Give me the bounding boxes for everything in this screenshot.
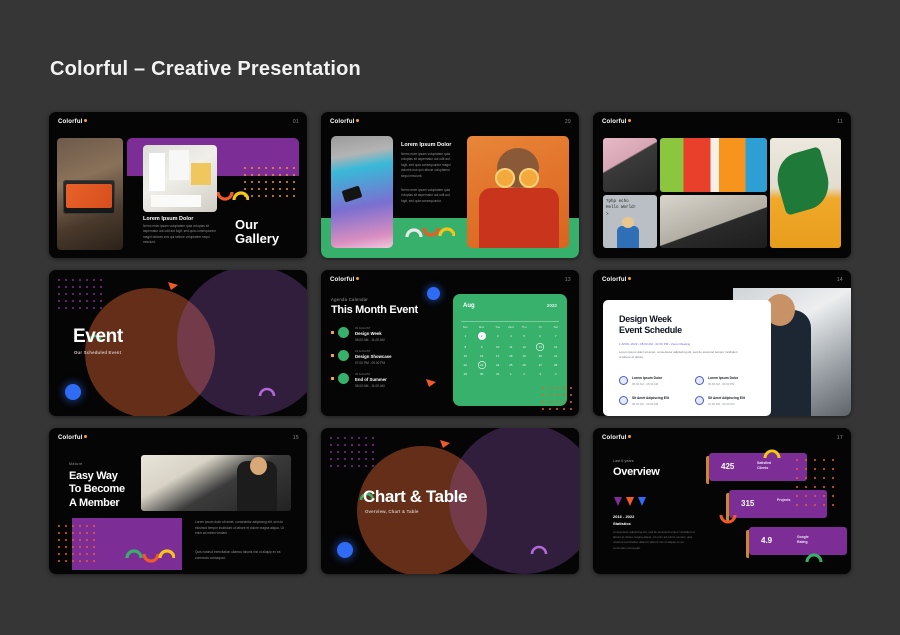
- body-text: Nemo enim ipsam voluptatem quia voluptas…: [143, 224, 217, 245]
- calendar-day[interactable]: 6: [530, 330, 550, 341]
- logo-dot-icon: [356, 119, 359, 122]
- leaf-photo: [770, 138, 841, 248]
- triangle-icon: [167, 281, 179, 291]
- kicker: Last 6 years: [613, 459, 634, 463]
- schedule-time: 08.30 AM - 09.00 AM: [632, 402, 658, 406]
- stat-label: Satisfied Clients: [757, 461, 795, 471]
- code-illustration: ?php echo Hello World! >: [603, 195, 657, 248]
- body-text: Consectetur adipiscing elit, sed do eius…: [613, 530, 697, 551]
- card-title: Design Week Event Schedule: [619, 314, 682, 336]
- logo: Colorful: [58, 119, 87, 125]
- slide-thumbnail-this-month-event[interactable]: Colorful 13 Agenda Calendar This Month E…: [321, 270, 579, 416]
- sub-title: Lorem Ipsum Dolor: [143, 216, 193, 222]
- slide-grid: Colorful 01: [49, 112, 851, 574]
- kicker: Mature: [69, 462, 83, 466]
- logo: Colorful: [602, 435, 631, 441]
- logo-dot-icon: [84, 435, 87, 438]
- person-photo: [141, 455, 291, 511]
- calendar-day[interactable]: 5: [518, 330, 530, 341]
- interior-photo: [143, 145, 217, 212]
- dot-grid-icon: [57, 278, 107, 316]
- schedule-title: Lorem Ipsum Dolor: [632, 376, 662, 380]
- agenda-title: Design Showcase: [355, 354, 392, 359]
- logo: Colorful: [58, 435, 87, 441]
- stat-bar: 425 Satisfied Clients: [709, 453, 807, 481]
- calendar-day[interactable]: 29: [459, 371, 472, 378]
- calendar-day[interactable]: 11: [504, 341, 518, 352]
- calendar-day[interactable]: 18: [504, 352, 518, 359]
- schedule-time: 01.00 PM - 02.00 PM: [708, 402, 734, 406]
- calendar-day[interactable]: 10: [492, 341, 504, 352]
- schedule-time: 09.00 AM - 09.00 PM: [708, 382, 734, 386]
- dot-grid-icon: [243, 166, 299, 206]
- agenda-date: 26 AUGUST: [355, 372, 370, 376]
- calendar-day[interactable]: 3: [530, 371, 550, 378]
- agenda-time: 08.00 AM - 11.00 AM: [355, 384, 385, 388]
- page-number: 01: [293, 119, 299, 125]
- triangle-icon: [439, 439, 451, 449]
- weekday: Thu: [518, 323, 530, 330]
- agenda-time: 07.00 PM - 09.00 PM: [355, 361, 385, 365]
- page-number: 14: [837, 277, 843, 283]
- calendar-day[interactable]: 9: [472, 341, 492, 352]
- purple-arc-icon: [258, 386, 276, 397]
- logo: Colorful: [330, 119, 359, 125]
- purple-arc-icon: [530, 544, 548, 555]
- avatar: [338, 350, 349, 361]
- schedule-card: Design Week Event Schedule 1 APRIL 2022 …: [603, 300, 771, 416]
- color-swatch-photo: [331, 136, 393, 248]
- page-number: 29: [565, 119, 571, 125]
- calendar-day[interactable]: 27: [530, 360, 550, 371]
- square-bullet-icon: [331, 377, 334, 380]
- calendar-day[interactable]: 25: [504, 360, 518, 371]
- agenda-time: 08.00 AM - 11.00 AM: [355, 338, 385, 342]
- clock-icon: [619, 396, 628, 405]
- list-item[interactable]: 19 AUGUST Design Showcase 07.00 PM - 09.…: [331, 349, 441, 372]
- weekday: Wed: [504, 323, 518, 330]
- stat-value: 4.9: [761, 536, 772, 545]
- calendar-day[interactable]: 17: [492, 352, 504, 359]
- logo-dot-icon: [628, 435, 631, 438]
- calendar-day[interactable]: 22: [459, 360, 472, 371]
- calendar-day[interactable]: 4: [550, 371, 561, 378]
- clock-icon: [695, 396, 704, 405]
- schedule-title: Lorem Ipsum Dolor: [708, 376, 738, 380]
- presentation-preview-page: Colorful – Creative Presentation Colorfu…: [0, 0, 900, 635]
- stat-period-label: 2016 - 2022 Statistics: [613, 514, 634, 528]
- calendar-month: Aug: [463, 303, 475, 309]
- slide-heading: Our Gallery: [235, 218, 299, 245]
- code-text: ?php echo Hello World! >: [606, 199, 636, 218]
- model-photo: [467, 136, 569, 248]
- slide-thumbnail-become-member[interactable]: Colorful 15 Mature Easy Way To Become A …: [49, 428, 307, 574]
- stat-value: 425: [721, 462, 734, 471]
- calendar-day[interactable]: 19: [518, 352, 530, 359]
- slide-thumbnail-event[interactable]: Event Our Scheduled Event: [49, 270, 307, 416]
- calendar-day[interactable]: 1: [459, 330, 472, 341]
- calendar-day[interactable]: 28: [550, 360, 561, 371]
- slide-subtitle: Our Scheduled Event: [74, 350, 121, 355]
- weekday: Sat: [550, 323, 561, 330]
- slide-heading: Overview: [613, 466, 660, 478]
- slide-thumbnail-overview[interactable]: Colorful 17 Last 6 years Overview 2016 -…: [593, 428, 851, 574]
- card-meta: 1 APRIL 2022 • 08:00 AM - 02:00 PM • Zoo…: [619, 342, 690, 346]
- page-number: 15: [293, 435, 299, 441]
- slide-heading: This Month Event: [331, 304, 418, 316]
- page-title: Colorful – Creative Presentation: [50, 58, 361, 81]
- stat-value: 315: [741, 499, 754, 508]
- page-number: 17: [837, 435, 843, 441]
- dot-grid-icon: [795, 458, 843, 512]
- schedule-time: 08.00 AM - 08.30 AM: [632, 382, 658, 386]
- yellow-arc-icon: [763, 448, 781, 459]
- weekday: Fri: [530, 323, 550, 330]
- calendar-day[interactable]: 3: [492, 330, 504, 341]
- body-text: Lorem ipsum dolor sit amet, consectetur …: [195, 520, 291, 537]
- list-item[interactable]: 03 AUGUST Design Week 08.00 AM - 11.00 A…: [331, 326, 441, 349]
- slide-title: Chart & Table: [363, 487, 467, 507]
- calendar-day[interactable]: 21: [550, 352, 561, 359]
- logo-dot-icon: [356, 277, 359, 280]
- calendar-year: 2022: [547, 303, 557, 308]
- workspace-photo: [660, 195, 767, 248]
- calendar-week: 29 30 31 1 2 3 4: [459, 371, 561, 378]
- stat-bar: 4.9 Google Rating: [749, 527, 847, 555]
- agenda-date: 19 AUGUST: [355, 349, 370, 353]
- agenda-date: 03 AUGUST: [355, 326, 370, 330]
- calendar-week: 22 23 24 25 26 27 28: [459, 360, 561, 371]
- logo-dot-icon: [628, 119, 631, 122]
- blue-dot: [337, 542, 353, 558]
- blue-dot: [427, 287, 440, 300]
- calendar-day[interactable]: 30: [472, 371, 492, 378]
- sub-title: Lorem Ipsum Dolor: [401, 142, 451, 148]
- slide-heading: Easy Way To Become A Member: [69, 470, 125, 510]
- orange-arc-icon: [719, 514, 737, 525]
- desk-photo: [57, 138, 123, 250]
- calendar-day[interactable]: 7: [550, 330, 561, 341]
- green-arc-icon: [805, 552, 823, 563]
- schedule-title: Sit Amet Adipiscing Elit: [632, 396, 669, 400]
- agenda-title: End of Summer: [355, 377, 387, 382]
- calendar-day[interactable]: 26: [518, 360, 530, 371]
- body-text-2: Nemo enim ipsam voluptatem quia voluptas…: [401, 188, 453, 204]
- calendar-day-selected[interactable]: 2: [472, 330, 492, 341]
- slide-thumbnail-our-gallery[interactable]: Colorful 01: [49, 112, 307, 258]
- agenda-title: Design Week: [355, 331, 382, 336]
- divider: [461, 321, 559, 322]
- triangle-icon: [425, 378, 437, 388]
- calendar-day[interactable]: 1: [504, 371, 518, 378]
- dot-grid-icon: [57, 524, 99, 564]
- body-text-2: Quis nostrud exercitation ullamco labori…: [195, 550, 291, 561]
- slide-thumbnail-design-week[interactable]: Colorful 14 Design Week Event Schedule 1…: [593, 270, 851, 416]
- dot-grid-icon: [329, 436, 379, 474]
- calendar-day[interactable]: 24: [492, 360, 504, 371]
- clock-icon: [695, 376, 704, 385]
- calendar-weekday-row: Sun Mon Tue Wed Thu Fri Sat: [459, 323, 561, 330]
- calendar-day[interactable]: 20: [530, 352, 550, 359]
- calendar-week: 8 9 10 11 12 13 14: [459, 341, 561, 352]
- logo: Colorful: [602, 277, 631, 283]
- calendar-day[interactable]: 8: [459, 341, 472, 352]
- kicker: Agenda Calendar: [331, 297, 368, 302]
- slide-title: Event: [73, 326, 123, 348]
- clock-icon: [619, 376, 628, 385]
- square-bullet-icon: [331, 354, 334, 357]
- square-bullet-icon: [331, 331, 334, 334]
- calendar-day[interactable]: 31: [492, 371, 504, 378]
- camera-photo: [603, 138, 657, 192]
- triangle-row-icon: [613, 496, 657, 508]
- logo-dot-icon: [628, 277, 631, 280]
- calendar-day[interactable]: 16: [472, 352, 492, 359]
- stat-label: Google Rating: [797, 535, 835, 545]
- arc-shapes-icon: [125, 548, 175, 568]
- calendar-week: 15 16 17 18 19 20 21: [459, 352, 561, 359]
- card-body: Lorem ipsum dolor sit amet, consectetur …: [619, 350, 741, 360]
- dot-grid-icon: [541, 386, 575, 412]
- slide-subtitle: Overview, Chart & Table: [365, 509, 419, 514]
- blue-dot: [65, 384, 81, 400]
- calendar-day[interactable]: 2: [518, 371, 530, 378]
- calendar-day[interactable]: 14: [550, 341, 561, 352]
- weekday: Mon: [472, 323, 492, 330]
- calendar-day[interactable]: 15: [459, 352, 472, 359]
- slide-thumbnail-chart-table[interactable]: Chart & Table Overview, Chart & Table: [321, 428, 579, 574]
- arc-shapes-icon: [405, 224, 455, 240]
- logo: Colorful: [330, 277, 359, 283]
- logo-dot-icon: [84, 119, 87, 122]
- body-text: Nemo enim ipsam voluptatem quia voluptas…: [401, 152, 453, 179]
- page-number: 11: [837, 119, 843, 125]
- slide-thumbnail-photo-grid[interactable]: Colorful 11 ?php echo Hello World! >: [593, 112, 851, 258]
- logo: Colorful: [602, 119, 631, 125]
- calendar-week: 1 2 3 4 5 6 7: [459, 330, 561, 341]
- weekday: Tue: [492, 323, 504, 330]
- calendar-table: Sun Mon Tue Wed Thu Fri Sat 1 2: [459, 323, 561, 378]
- calendar-day-highlight[interactable]: 23: [472, 360, 492, 371]
- calendar-day[interactable]: 4: [504, 330, 518, 341]
- slide-thumbnail-lorem-orange[interactable]: Colorful 29 Lorem Ipsum Dolor Nemo enim …: [321, 112, 579, 258]
- weekday: Sun: [459, 323, 472, 330]
- paint-rollers-photo: [660, 138, 767, 192]
- schedule-title: Sit Amet Adipiscing Elit: [708, 396, 745, 400]
- calendar-day-highlight[interactable]: 13: [530, 341, 550, 352]
- avatar: [338, 327, 349, 338]
- calendar-day[interactable]: 12: [518, 341, 530, 352]
- avatar: [338, 373, 349, 384]
- page-number: 13: [565, 277, 571, 283]
